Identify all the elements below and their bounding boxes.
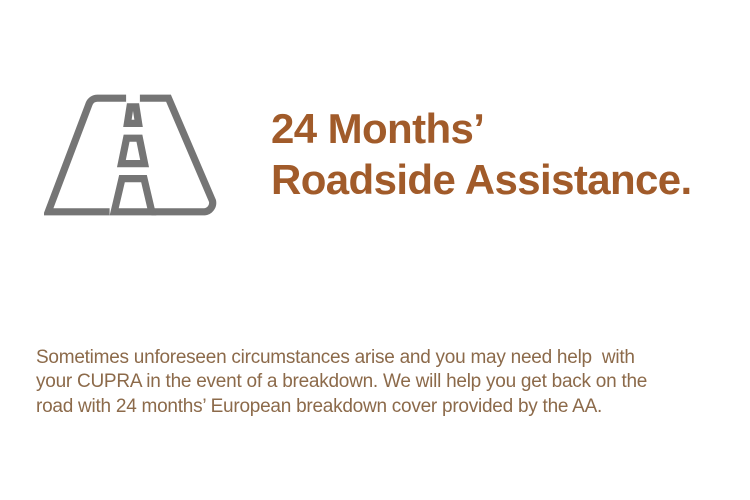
road-icon-container — [0, 0, 265, 300]
body-line-2: your CUPRA in the event of a breakdown. … — [36, 370, 726, 394]
hero-section: 24 Months’ Roadside Assistance. — [0, 0, 750, 300]
roadside-assistance-card: 24 Months’ Roadside Assistance. Sometime… — [0, 0, 750, 500]
heading-block: 24 Months’ Roadside Assistance. — [265, 95, 750, 205]
body-line-3: road with 24 months’ European breakdown … — [36, 395, 726, 419]
heading-line-1: 24 Months’ — [271, 103, 750, 154]
body-copy-block: Sometimes unforeseen circumstances arise… — [36, 346, 726, 419]
road-icon — [44, 93, 222, 217]
body-line-1: Sometimes unforeseen circumstances arise… — [36, 346, 726, 370]
heading-line-2: Roadside Assistance. — [271, 154, 750, 205]
